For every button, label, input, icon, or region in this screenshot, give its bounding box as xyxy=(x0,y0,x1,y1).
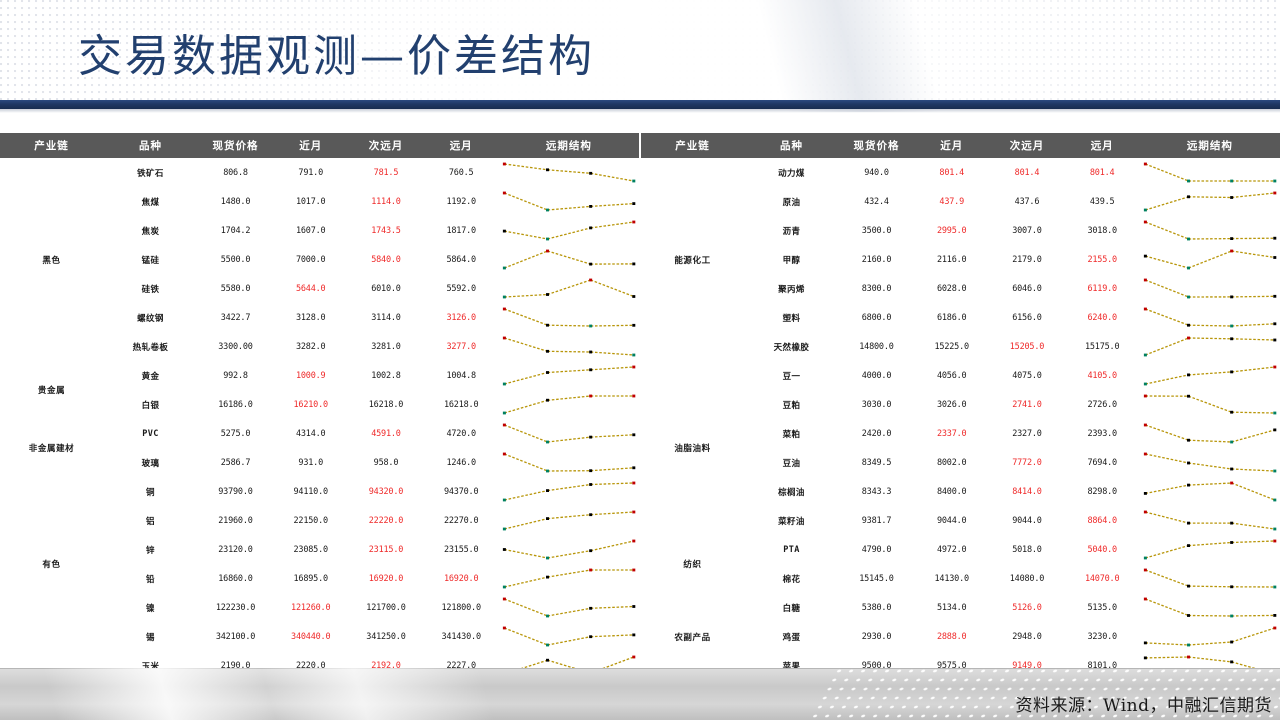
table-row: 纺织PTA4790.04972.05018.05040.0 xyxy=(641,535,1280,564)
variety-name-cell: 天然橡胶 xyxy=(744,332,839,361)
spot-price-cell: 5500.0 xyxy=(198,245,273,274)
spot-price-cell: 122230.0 xyxy=(198,593,273,622)
variety-name-cell: 镍 xyxy=(103,593,198,622)
table-row: 有色铜93790.094110.094320.094370.0 xyxy=(0,477,639,506)
industry-chain-cell: 油脂油料 xyxy=(641,361,744,535)
mid-far-month-cell: 9044.0 xyxy=(989,506,1064,535)
page-title: 交易数据观测—价差结构 xyxy=(78,28,595,86)
variety-name-cell: 焦煤 xyxy=(103,187,198,216)
spot-price-cell: 8343.3 xyxy=(839,477,914,506)
forward-curve-sparkline xyxy=(499,564,639,593)
near-month-cell: 14130.0 xyxy=(914,564,989,593)
mid-far-month-cell: 781.5 xyxy=(348,158,423,187)
variety-name-cell: 铜 xyxy=(103,477,198,506)
forward-curve-sparkline xyxy=(499,535,639,564)
far-month-cell: 5135.0 xyxy=(1065,593,1140,622)
column-header-1: 品种 xyxy=(744,133,839,158)
forward-curve-sparkline xyxy=(1140,535,1280,564)
forward-curve-sparkline xyxy=(499,477,639,506)
mid-far-month-cell: 2179.0 xyxy=(989,245,1064,274)
variety-name-cell: PTA xyxy=(744,535,839,564)
column-header-4: 次远月 xyxy=(348,133,423,158)
mid-far-month-cell: 14080.0 xyxy=(989,564,1064,593)
near-month-cell: 8002.0 xyxy=(914,448,989,477)
far-month-cell: 15175.0 xyxy=(1065,332,1140,361)
spot-price-cell: 9381.7 xyxy=(839,506,914,535)
spot-price-cell: 4790.0 xyxy=(839,535,914,564)
spot-price-cell: 2586.7 xyxy=(198,448,273,477)
variety-name-cell: 白银 xyxy=(103,390,198,419)
forward-curve-sparkline xyxy=(499,187,639,216)
variety-name-cell: 焦炭 xyxy=(103,216,198,245)
forward-curve-sparkline xyxy=(1140,158,1280,187)
table-row: 贵金属黄金992.81000.91002.81004.8 xyxy=(0,361,639,390)
near-month-cell: 4972.0 xyxy=(914,535,989,564)
spot-price-cell: 4000.0 xyxy=(839,361,914,390)
bottom-band-sheen xyxy=(0,668,560,720)
column-header-0: 产业链 xyxy=(0,133,103,158)
mid-far-month-cell: 4075.0 xyxy=(989,361,1064,390)
near-month-cell: 3026.0 xyxy=(914,390,989,419)
forward-curve-sparkline xyxy=(1140,593,1280,622)
forward-curve-sparkline xyxy=(499,448,639,477)
far-month-cell: 3277.0 xyxy=(424,332,499,361)
industry-chain-cell: 贵金属 xyxy=(0,361,103,419)
far-month-cell: 3126.0 xyxy=(424,303,499,332)
column-header-4: 次远月 xyxy=(989,133,1064,158)
variety-name-cell: 锌 xyxy=(103,535,198,564)
variety-name-cell: 鸡蛋 xyxy=(744,622,839,651)
mid-far-month-cell: 2741.0 xyxy=(989,390,1064,419)
column-header-1: 品种 xyxy=(103,133,198,158)
mid-far-month-cell: 3114.0 xyxy=(348,303,423,332)
spot-price-cell: 3030.0 xyxy=(839,390,914,419)
variety-name-cell: 锡 xyxy=(103,622,198,651)
forward-curve-sparkline xyxy=(1140,332,1280,361)
forward-curve-sparkline xyxy=(499,361,639,390)
forward-curve-sparkline xyxy=(499,303,639,332)
forward-curve-sparkline xyxy=(499,245,639,274)
far-month-cell: 8298.0 xyxy=(1065,477,1140,506)
industry-chain-cell: 黑色 xyxy=(0,158,103,361)
mid-far-month-cell: 2327.0 xyxy=(989,419,1064,448)
spot-price-cell: 992.8 xyxy=(198,361,273,390)
near-month-cell: 1607.0 xyxy=(273,216,348,245)
forward-curve-table: 产业链品种现货价格近月次远月远月远期结构黑色铁矿石806.8791.0781.5… xyxy=(0,133,639,709)
industry-chain-cell: 有色 xyxy=(0,477,103,651)
price-structure-table-left: 产业链品种现货价格近月次远月远月远期结构黑色铁矿石806.8791.0781.5… xyxy=(0,133,639,673)
spot-price-cell: 2160.0 xyxy=(839,245,914,274)
variety-name-cell: 菜籽油 xyxy=(744,506,839,535)
column-header-3: 近月 xyxy=(273,133,348,158)
variety-name-cell: 白糖 xyxy=(744,593,839,622)
forward-curve-sparkline xyxy=(499,622,639,651)
forward-curve-sparkline xyxy=(499,158,639,187)
far-month-cell: 3018.0 xyxy=(1065,216,1140,245)
near-month-cell: 3282.0 xyxy=(273,332,348,361)
near-month-cell: 3128.0 xyxy=(273,303,348,332)
forward-curve-sparkline xyxy=(1140,564,1280,593)
far-month-cell: 3230.0 xyxy=(1065,622,1140,651)
spot-price-cell: 2930.0 xyxy=(839,622,914,651)
variety-name-cell: 铁矿石 xyxy=(103,158,198,187)
spot-price-cell: 3300.00 xyxy=(198,332,273,361)
mid-far-month-cell: 16218.0 xyxy=(348,390,423,419)
near-month-cell: 94110.0 xyxy=(273,477,348,506)
mid-far-month-cell: 5018.0 xyxy=(989,535,1064,564)
forward-curve-sparkline xyxy=(499,274,639,303)
table-row: 能源化工动力煤940.0801.4801.4801.4 xyxy=(641,158,1280,187)
mid-far-month-cell: 94320.0 xyxy=(348,477,423,506)
far-month-cell: 6119.0 xyxy=(1065,274,1140,303)
column-header-6: 远期结构 xyxy=(1140,133,1280,158)
near-month-cell: 121260.0 xyxy=(273,593,348,622)
variety-name-cell: 豆粕 xyxy=(744,390,839,419)
far-month-cell: 14070.0 xyxy=(1065,564,1140,593)
variety-name-cell: 热轧卷板 xyxy=(103,332,198,361)
forward-curve-sparkline xyxy=(499,506,639,535)
far-month-cell: 2726.0 xyxy=(1065,390,1140,419)
forward-curve-sparkline xyxy=(1140,448,1280,477)
table-row: 油脂油料豆一4000.04056.04075.04105.0 xyxy=(641,361,1280,390)
far-month-cell: 8864.0 xyxy=(1065,506,1140,535)
near-month-cell: 2888.0 xyxy=(914,622,989,651)
spot-price-cell: 15145.0 xyxy=(839,564,914,593)
mid-far-month-cell: 6010.0 xyxy=(348,274,423,303)
spot-price-cell: 3422.7 xyxy=(198,303,273,332)
near-month-cell: 16895.0 xyxy=(273,564,348,593)
far-month-cell: 760.5 xyxy=(424,158,499,187)
spot-price-cell: 432.4 xyxy=(839,187,914,216)
near-month-cell: 6186.0 xyxy=(914,303,989,332)
column-header-2: 现货价格 xyxy=(839,133,914,158)
spot-price-cell: 8300.0 xyxy=(839,274,914,303)
mid-far-month-cell: 6156.0 xyxy=(989,303,1064,332)
forward-curve-sparkline xyxy=(1140,187,1280,216)
forward-curve-sparkline xyxy=(1140,506,1280,535)
title-divider-shadow xyxy=(0,109,1280,113)
far-month-cell: 5592.0 xyxy=(424,274,499,303)
spot-price-cell: 1480.0 xyxy=(198,187,273,216)
variety-name-cell: 沥青 xyxy=(744,216,839,245)
mid-far-month-cell: 23115.0 xyxy=(348,535,423,564)
industry-chain-cell: 能源化工 xyxy=(641,158,744,361)
mid-far-month-cell: 5840.0 xyxy=(348,245,423,274)
near-month-cell: 15225.0 xyxy=(914,332,989,361)
forward-curve-sparkline xyxy=(1140,245,1280,274)
near-month-cell: 801.4 xyxy=(914,158,989,187)
variety-name-cell: 锰硅 xyxy=(103,245,198,274)
spot-price-cell: 6800.0 xyxy=(839,303,914,332)
far-month-cell: 121800.0 xyxy=(424,593,499,622)
far-month-cell: 5864.0 xyxy=(424,245,499,274)
near-month-cell: 22150.0 xyxy=(273,506,348,535)
mid-far-month-cell: 15205.0 xyxy=(989,332,1064,361)
far-month-cell: 94370.0 xyxy=(424,477,499,506)
variety-name-cell: 甲醇 xyxy=(744,245,839,274)
far-month-cell: 1817.0 xyxy=(424,216,499,245)
forward-curve-sparkline xyxy=(1140,419,1280,448)
near-month-cell: 2995.0 xyxy=(914,216,989,245)
mid-far-month-cell: 6046.0 xyxy=(989,274,1064,303)
column-header-3: 近月 xyxy=(914,133,989,158)
mid-far-month-cell: 341250.0 xyxy=(348,622,423,651)
far-month-cell: 1192.0 xyxy=(424,187,499,216)
near-month-cell: 931.0 xyxy=(273,448,348,477)
mid-far-month-cell: 16920.0 xyxy=(348,564,423,593)
table-row: 非金属建材PVC5275.04314.04591.04720.0 xyxy=(0,419,639,448)
mid-far-month-cell: 958.0 xyxy=(348,448,423,477)
variety-name-cell: 豆一 xyxy=(744,361,839,390)
spot-price-cell: 23120.0 xyxy=(198,535,273,564)
forward-curve-sparkline xyxy=(499,593,639,622)
far-month-cell: 5040.0 xyxy=(1065,535,1140,564)
mid-far-month-cell: 22220.0 xyxy=(348,506,423,535)
near-month-cell: 1017.0 xyxy=(273,187,348,216)
spot-price-cell: 1704.2 xyxy=(198,216,273,245)
far-month-cell: 2155.0 xyxy=(1065,245,1140,274)
mid-far-month-cell: 1114.0 xyxy=(348,187,423,216)
mid-far-month-cell: 3007.0 xyxy=(989,216,1064,245)
variety-name-cell: PVC xyxy=(103,419,198,448)
variety-name-cell: 动力煤 xyxy=(744,158,839,187)
industry-chain-cell: 非金属建材 xyxy=(0,419,103,477)
variety-name-cell: 螺纹钢 xyxy=(103,303,198,332)
mid-far-month-cell: 3281.0 xyxy=(348,332,423,361)
near-month-cell: 8400.0 xyxy=(914,477,989,506)
mid-far-month-cell: 8414.0 xyxy=(989,477,1064,506)
far-month-cell: 22270.0 xyxy=(424,506,499,535)
forward-curve-sparkline xyxy=(1140,216,1280,245)
industry-chain-cell: 农副产品 xyxy=(641,593,744,680)
near-month-cell: 16210.0 xyxy=(273,390,348,419)
spot-price-cell: 3500.0 xyxy=(839,216,914,245)
variety-name-cell: 玻璃 xyxy=(103,448,198,477)
column-header-0: 产业链 xyxy=(641,133,744,158)
variety-name-cell: 棕榈油 xyxy=(744,477,839,506)
far-month-cell: 801.4 xyxy=(1065,158,1140,187)
near-month-cell: 1000.9 xyxy=(273,361,348,390)
mid-far-month-cell: 1002.8 xyxy=(348,361,423,390)
near-month-cell: 437.9 xyxy=(914,187,989,216)
variety-name-cell: 铅 xyxy=(103,564,198,593)
spot-price-cell: 342100.0 xyxy=(198,622,273,651)
mid-far-month-cell: 2948.0 xyxy=(989,622,1064,651)
column-header-6: 远期结构 xyxy=(499,133,639,158)
spot-price-cell: 16860.0 xyxy=(198,564,273,593)
near-month-cell: 4056.0 xyxy=(914,361,989,390)
far-month-cell: 4105.0 xyxy=(1065,361,1140,390)
far-month-cell: 7694.0 xyxy=(1065,448,1140,477)
forward-curve-table: 产业链品种现货价格近月次远月远月远期结构能源化工动力煤940.0801.4801… xyxy=(641,133,1280,680)
source-footnote: 资料来源：Wind，中融汇信期货 xyxy=(1016,691,1272,716)
forward-curve-sparkline xyxy=(499,419,639,448)
variety-name-cell: 聚丙烯 xyxy=(744,274,839,303)
near-month-cell: 2337.0 xyxy=(914,419,989,448)
variety-name-cell: 棉花 xyxy=(744,564,839,593)
far-month-cell: 6240.0 xyxy=(1065,303,1140,332)
near-month-cell: 9044.0 xyxy=(914,506,989,535)
forward-curve-sparkline xyxy=(1140,477,1280,506)
price-structure-table-right: 产业链品种现货价格近月次远月远月远期结构能源化工动力煤940.0801.4801… xyxy=(641,133,1280,673)
forward-curve-sparkline xyxy=(499,332,639,361)
forward-curve-sparkline xyxy=(1140,303,1280,332)
title-divider-rule xyxy=(0,100,1280,109)
slide-canvas: 交易数据观测—价差结构 产业链品种现货价格近月次远月远月远期结构黑色铁矿石806… xyxy=(0,0,1280,720)
far-month-cell: 439.5 xyxy=(1065,187,1140,216)
variety-name-cell: 黄金 xyxy=(103,361,198,390)
mid-far-month-cell: 4591.0 xyxy=(348,419,423,448)
far-month-cell: 4720.0 xyxy=(424,419,499,448)
industry-chain-cell: 纺织 xyxy=(641,535,744,593)
mid-far-month-cell: 1743.5 xyxy=(348,216,423,245)
far-month-cell: 16920.0 xyxy=(424,564,499,593)
mid-far-month-cell: 437.6 xyxy=(989,187,1064,216)
forward-curve-sparkline xyxy=(1140,361,1280,390)
near-month-cell: 791.0 xyxy=(273,158,348,187)
mid-far-month-cell: 5126.0 xyxy=(989,593,1064,622)
spot-price-cell: 806.8 xyxy=(198,158,273,187)
spot-price-cell: 940.0 xyxy=(839,158,914,187)
table-row: 农副产品白糖5380.05134.05126.05135.0 xyxy=(641,593,1280,622)
mid-far-month-cell: 801.4 xyxy=(989,158,1064,187)
near-month-cell: 2116.0 xyxy=(914,245,989,274)
far-month-cell: 1246.0 xyxy=(424,448,499,477)
spot-price-cell: 14800.0 xyxy=(839,332,914,361)
far-month-cell: 1004.8 xyxy=(424,361,499,390)
near-month-cell: 7000.0 xyxy=(273,245,348,274)
forward-curve-sparkline xyxy=(1140,274,1280,303)
near-month-cell: 6028.0 xyxy=(914,274,989,303)
column-header-5: 远月 xyxy=(424,133,499,158)
variety-name-cell: 塑料 xyxy=(744,303,839,332)
spot-price-cell: 8349.5 xyxy=(839,448,914,477)
far-month-cell: 16218.0 xyxy=(424,390,499,419)
forward-curve-sparkline xyxy=(499,390,639,419)
forward-curve-sparkline xyxy=(1140,390,1280,419)
mid-far-month-cell: 7772.0 xyxy=(989,448,1064,477)
mid-far-month-cell: 121700.0 xyxy=(348,593,423,622)
spot-price-cell: 16186.0 xyxy=(198,390,273,419)
near-month-cell: 5134.0 xyxy=(914,593,989,622)
far-month-cell: 341430.0 xyxy=(424,622,499,651)
far-month-cell: 23155.0 xyxy=(424,535,499,564)
variety-name-cell: 原油 xyxy=(744,187,839,216)
spot-price-cell: 5380.0 xyxy=(839,593,914,622)
spot-price-cell: 93790.0 xyxy=(198,477,273,506)
spot-price-cell: 5275.0 xyxy=(198,419,273,448)
spot-price-cell: 5580.0 xyxy=(198,274,273,303)
spot-price-cell: 2420.0 xyxy=(839,419,914,448)
variety-name-cell: 菜粕 xyxy=(744,419,839,448)
near-month-cell: 340440.0 xyxy=(273,622,348,651)
far-month-cell: 2393.0 xyxy=(1065,419,1140,448)
spot-price-cell: 21960.0 xyxy=(198,506,273,535)
column-header-5: 远月 xyxy=(1065,133,1140,158)
variety-name-cell: 硅铁 xyxy=(103,274,198,303)
near-month-cell: 4314.0 xyxy=(273,419,348,448)
forward-curve-sparkline xyxy=(499,216,639,245)
forward-curve-sparkline xyxy=(1140,622,1280,651)
column-header-2: 现货价格 xyxy=(198,133,273,158)
near-month-cell: 5644.0 xyxy=(273,274,348,303)
variety-name-cell: 豆油 xyxy=(744,448,839,477)
table-row: 黑色铁矿石806.8791.0781.5760.5 xyxy=(0,158,639,187)
variety-name-cell: 铝 xyxy=(103,506,198,535)
near-month-cell: 23085.0 xyxy=(273,535,348,564)
